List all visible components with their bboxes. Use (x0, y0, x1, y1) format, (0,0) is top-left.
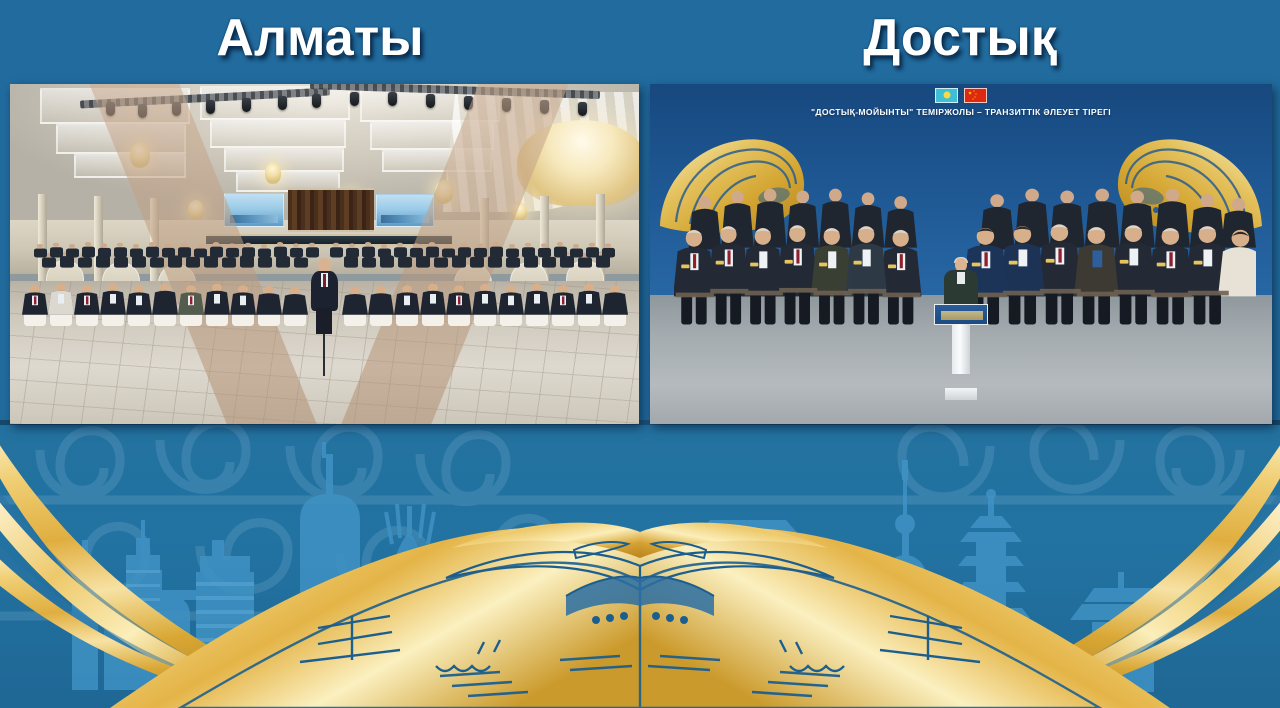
speaker-legs (316, 308, 332, 334)
cn-star-2 (973, 90, 975, 92)
stage-light (388, 92, 397, 106)
podium-sign (941, 311, 983, 320)
left-city-title: Алматы (216, 12, 423, 68)
microphone-stand (323, 334, 325, 376)
ceremony-guests-right (964, 182, 1256, 332)
video-feed-almaty[interactable] (10, 84, 639, 424)
right-city-title: Достық (863, 12, 1057, 68)
ceremony-podium (948, 304, 974, 400)
almaty-feed-content (10, 84, 639, 424)
stage-light (242, 98, 251, 112)
stage-light (426, 94, 435, 108)
kazakhstan-flag-icon (935, 88, 958, 103)
video-feeds-row: "ДОСТЫҚ-МОЙЫНТЫ" ТЕМІРЖОЛЫ – ТРАНЗИТТІК … (0, 84, 1280, 424)
podium-base (945, 388, 977, 400)
china-flag-icon (964, 88, 987, 103)
gold-train-icon (0, 420, 640, 708)
kz-sun (943, 92, 950, 99)
backdrop-left-half (0, 420, 640, 708)
dostyk-feed-content: "ДОСТЫҚ-МОЙЫНТЫ" ТЕМІРЖОЛЫ – ТРАНЗИТТІК … (650, 84, 1272, 424)
cn-star-4 (974, 96, 976, 98)
ceremony-speaker (942, 258, 980, 306)
city-titles-row: Алматы Достық (0, 0, 1280, 80)
video-feed-dostyk[interactable]: "ДОСТЫҚ-МОЙЫНТЫ" ТЕМІРЖОЛЫ – ТРАНЗИТТІК … (650, 84, 1272, 424)
gold-train-mirrored-icon (640, 420, 1280, 708)
chandelier (265, 162, 281, 184)
decorative-backdrop (0, 420, 1280, 708)
ceiling-coffer (210, 120, 346, 148)
backdrop-right-half (640, 420, 1280, 708)
left-title-cell: Алматы (0, 0, 640, 80)
stage-wall (288, 188, 374, 232)
stage-light (312, 94, 321, 108)
cn-star-5 (972, 98, 974, 100)
banner-flags (935, 88, 987, 103)
hall-speaker (309, 258, 341, 336)
podium-column (952, 324, 970, 374)
right-title-cell: Достық (640, 0, 1280, 80)
hall-scene (10, 84, 639, 424)
ceremony-guests-left (674, 182, 946, 332)
stage-light (206, 100, 215, 114)
presentation-stage: Алматы Достық (0, 0, 1280, 708)
stage-light (350, 92, 359, 106)
ceiling-coffer (224, 148, 344, 172)
podium-top (934, 304, 988, 325)
cn-star-main (968, 91, 972, 95)
speaker-tie (323, 274, 326, 287)
stage-light (578, 102, 587, 116)
ceremony-scene: "ДОСТЫҚ-МОЙЫНТЫ" ТЕМІРЖОЛЫ – ТРАНЗИТТІК … (650, 84, 1272, 424)
stage-light (278, 96, 287, 110)
ceremony-banner-text: "ДОСТЫҚ-МОЙЫНТЫ" ТЕМІРЖОЛЫ – ТРАНЗИТТІК … (811, 107, 1111, 117)
cn-star-3 (975, 93, 977, 95)
ceremony-speaker-shirt (957, 272, 965, 284)
